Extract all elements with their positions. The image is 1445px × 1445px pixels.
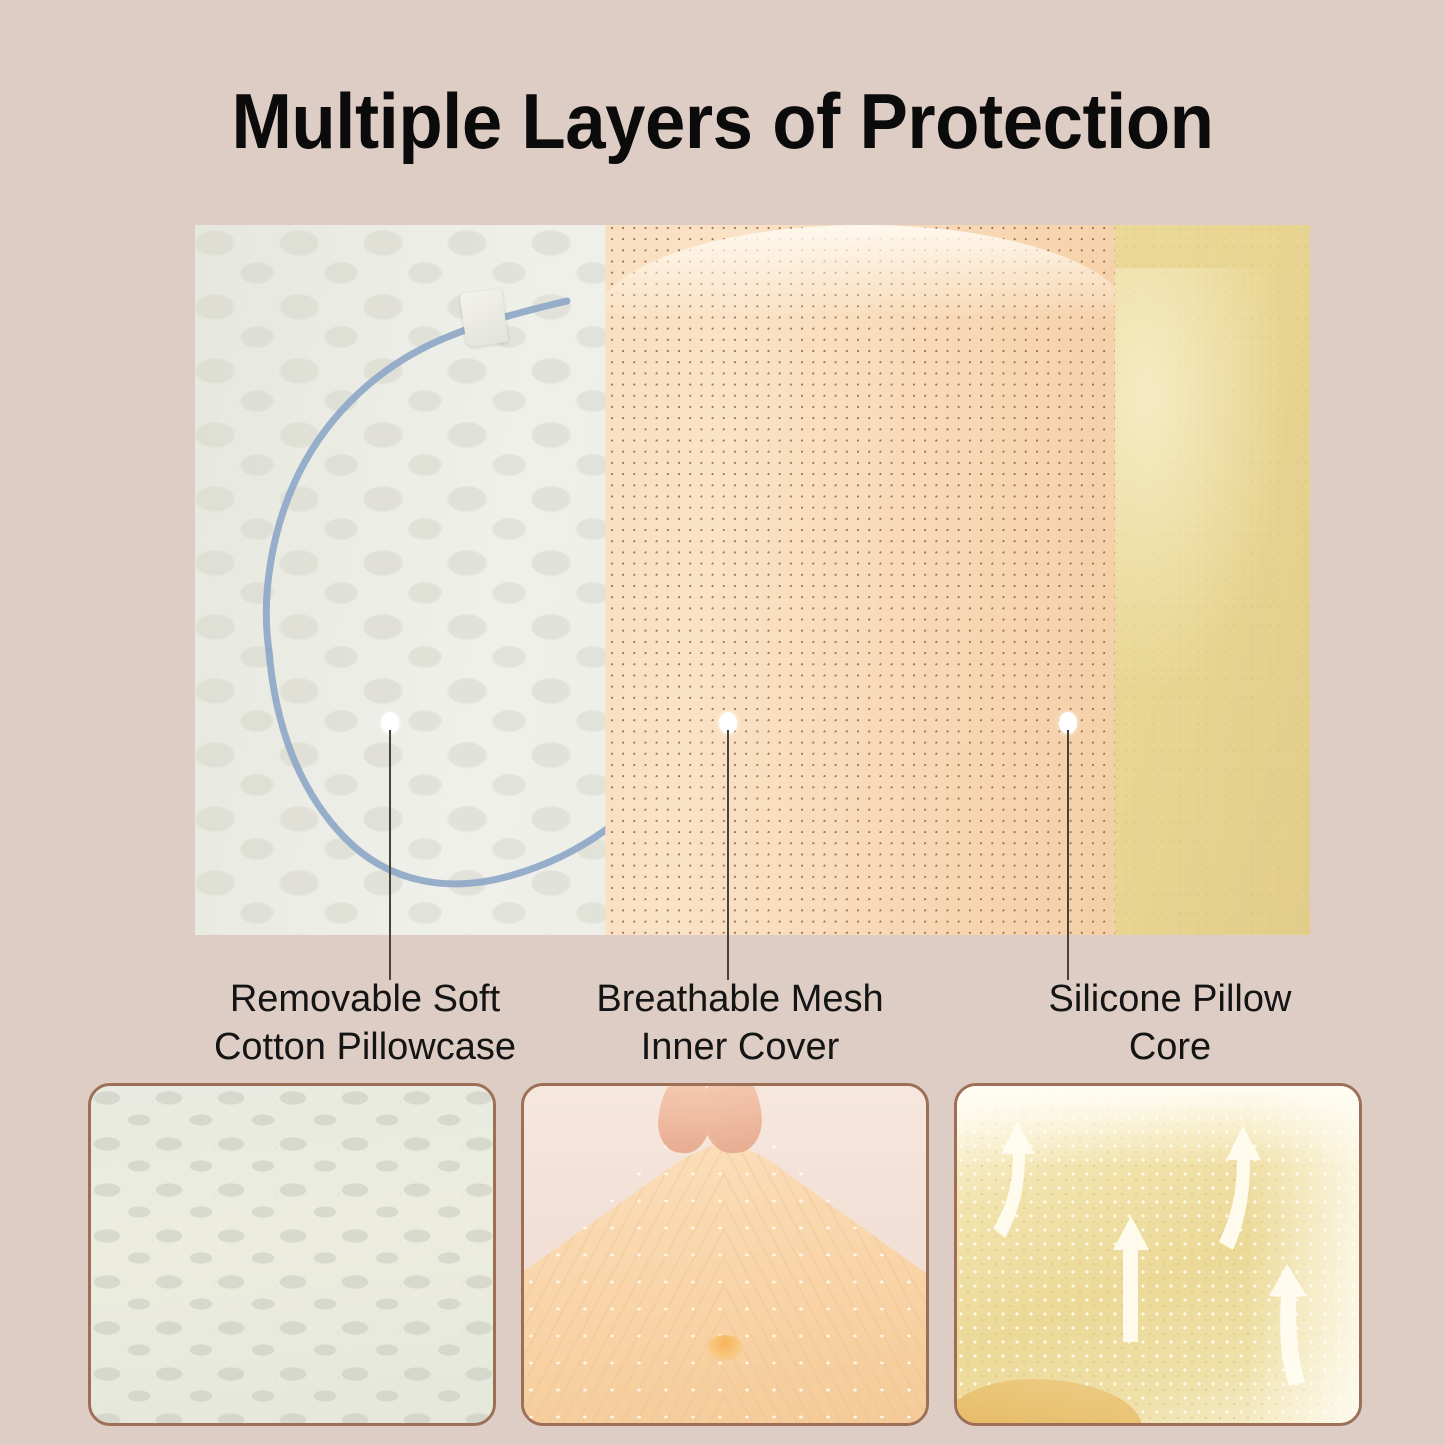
airflow-arrow-1-icon (991, 1114, 1047, 1246)
caption-core-line1: Silicone Pillow (920, 975, 1420, 1023)
cotton-fabric-texture (91, 1086, 493, 1423)
infographic-canvas: Multiple Layers of Protection (0, 0, 1445, 1445)
layer-captions: Removable Soft Cotton Pillowcase Breatha… (0, 975, 1445, 1070)
core-highlight (1087, 268, 1288, 694)
pinch-highlight (707, 1335, 743, 1361)
airflow-arrow-2-icon (1109, 1210, 1153, 1348)
thumbnail-mesh-stretch (521, 1083, 929, 1426)
thumbnail-silicone-foam (954, 1083, 1362, 1426)
airflow-arrow-3-icon (1213, 1120, 1265, 1256)
callout-line-mesh (727, 730, 729, 980)
callout-line-cotton (389, 730, 391, 980)
pillowcase-tag (459, 288, 508, 347)
finger-index (699, 1083, 764, 1155)
caption-core-line2: Core (920, 1023, 1420, 1071)
airflow-arrow-4-icon (1265, 1258, 1317, 1388)
pillow-diagram (195, 225, 1310, 935)
page-title: Multiple Layers of Protection (51, 76, 1395, 167)
caption-mesh-line2: Inner Cover (490, 1023, 990, 1071)
thumbnail-row (0, 1083, 1445, 1428)
caption-core: Silicone Pillow Core (920, 975, 1420, 1071)
hand-pinching (657, 1083, 769, 1159)
caption-mesh: Breathable Mesh Inner Cover (490, 975, 990, 1071)
caption-mesh-line1: Breathable Mesh (490, 975, 990, 1023)
thumbnail-cotton-fabric (88, 1083, 496, 1426)
callout-line-core (1067, 730, 1069, 980)
